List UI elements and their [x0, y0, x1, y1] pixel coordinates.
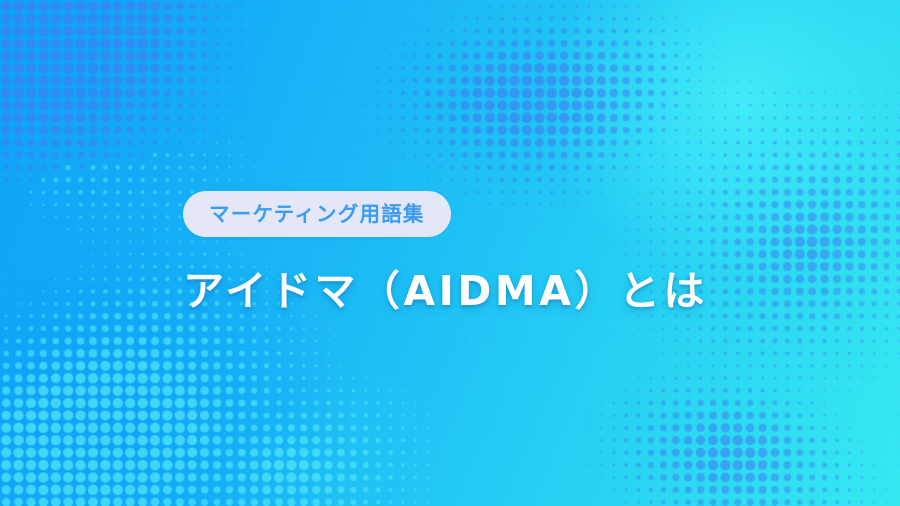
banner-content: マーケティング用語集 アイドマ（AIDMA）とは [0, 0, 900, 506]
category-badge: マーケティング用語集 [183, 191, 451, 237]
page-title: アイドマ（AIDMA）とは [183, 269, 708, 314]
marketing-glossary-hero-banner: マーケティング用語集 アイドマ（AIDMA）とは [0, 0, 900, 506]
